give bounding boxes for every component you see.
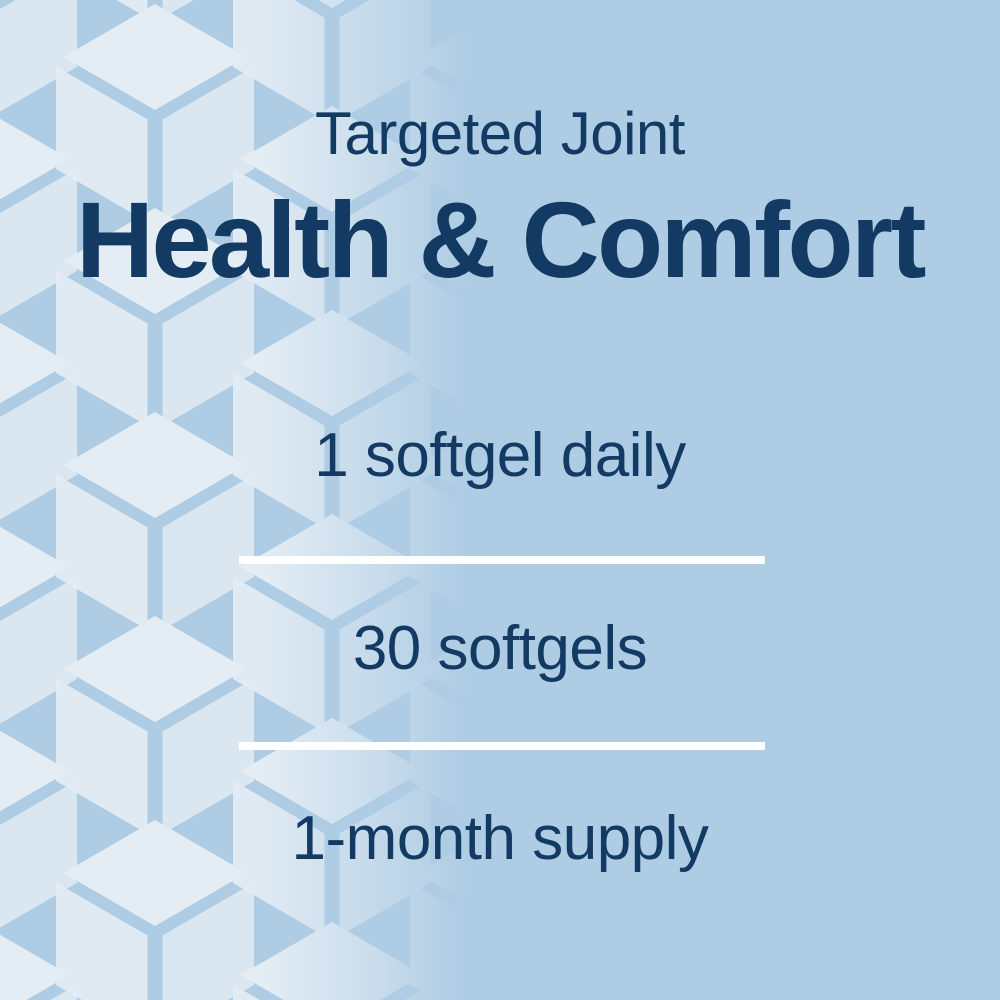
- page-title: Health & Comfort: [0, 186, 1000, 294]
- eyebrow-text: Targeted Joint: [0, 104, 1000, 164]
- divider-line-1: [239, 556, 765, 564]
- content-stack: Targeted Joint Health & Comfort 1 softge…: [0, 0, 1000, 1000]
- fact-dosage: 1 softgel daily: [0, 425, 1000, 487]
- divider-line-2: [239, 742, 765, 750]
- product-info-card: Targeted Joint Health & Comfort 1 softge…: [0, 0, 1000, 1000]
- fact-supply-duration: 1-month supply: [0, 808, 1000, 870]
- fact-count: 30 softgels: [0, 618, 1000, 680]
